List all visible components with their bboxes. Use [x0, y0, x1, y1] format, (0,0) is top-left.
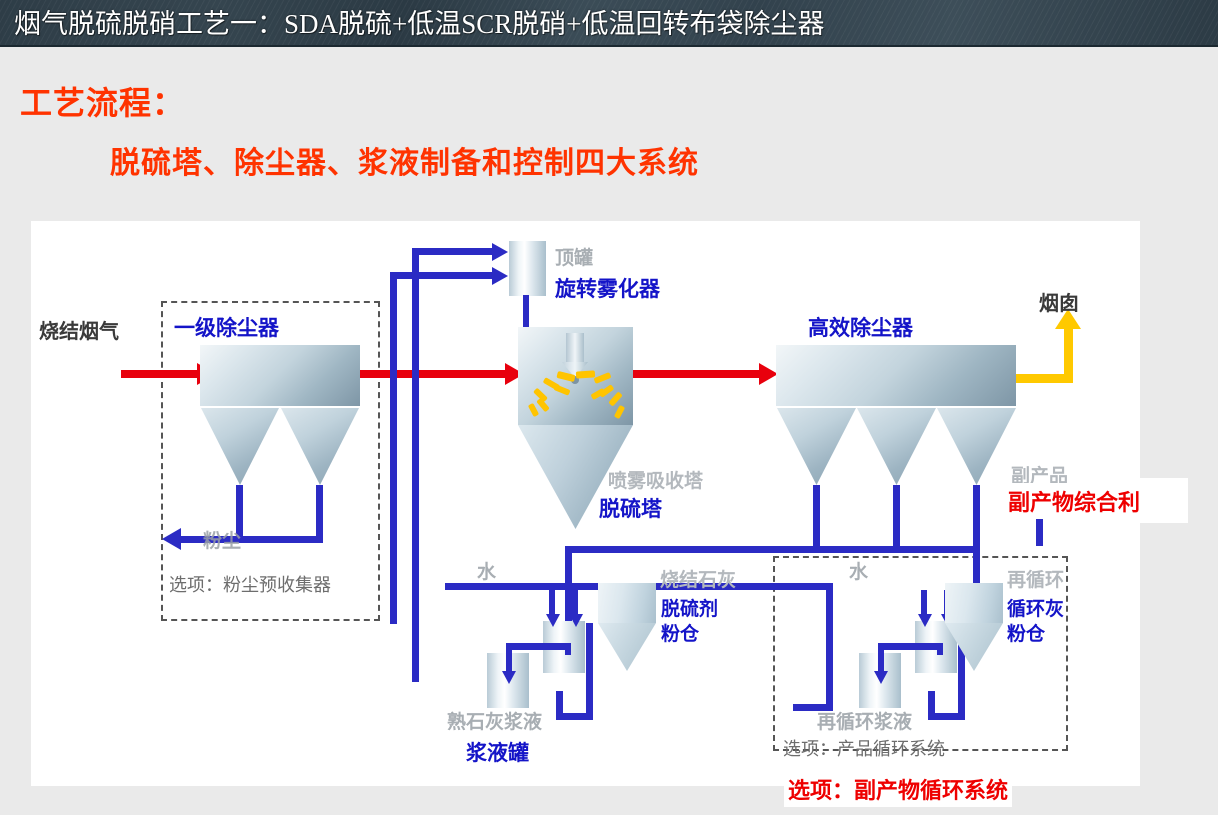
blue-line-mix-to-slurry-v	[565, 643, 571, 655]
label-recycle-ash-silo: 循环灰 粉仓	[1007, 597, 1064, 647]
blue-line-mix-to-slurry-h	[509, 643, 571, 650]
label-water-right: 水	[849, 557, 868, 584]
blue-line-ash-header	[565, 546, 980, 553]
label-desulfurizer-silo-line1: 脱硫剂	[661, 599, 718, 620]
spray-dash-7	[576, 370, 595, 378]
label-option-product-recycle: 选项：产品循环系统	[783, 735, 945, 761]
blue-line-he-drop-2	[893, 485, 900, 546]
page-title: 烟气脱硫脱硝工艺一：SDA脱硫+低温SCR脱硝+低温回转布袋除尘器	[14, 3, 825, 45]
label-slurry-tank: 浆液罐	[466, 737, 529, 767]
label-recirculation-faded: 再循环	[1007, 565, 1064, 592]
label-recirculating-slurry: 再循环浆液	[817, 707, 912, 734]
high-eff-hopper-2	[857, 408, 936, 485]
label-flue-gas-inlet: 烧结烟气	[39, 315, 119, 344]
label-chimney: 烟囱	[1039, 287, 1079, 316]
blue-arrow-slurry-drop	[502, 671, 516, 684]
atomizer-nozzle	[566, 333, 584, 365]
recycle-ash-silo-body	[945, 583, 1003, 623]
high-eff-hopper-3	[937, 408, 1016, 485]
desulfurizer-silo-body	[598, 583, 656, 623]
section-subtitle: 脱硫塔、除尘器、浆液制备和控制四大系统	[110, 138, 699, 182]
yellow-line-chimney-riser	[1064, 327, 1073, 379]
title-bar: 烟气脱硫脱硝工艺一：SDA脱硫+低温SCR脱硝+低温回转布袋除尘器	[0, 0, 1218, 47]
blue-line-hopper2-drop	[316, 485, 323, 543]
blue-line-to-recycle-silo	[973, 546, 980, 588]
label-primary-dust-collector: 一级除尘器	[174, 312, 279, 342]
blue-line-water-right-drop	[826, 583, 833, 711]
high-efficiency-collector-body	[776, 345, 1016, 406]
process-flow-diagram: 烧结烟气 一级除尘器 粉尘 选项：粉尘预收集器 顶罐 旋转雾化器	[31, 221, 1140, 786]
blue-line-he-drop-3	[973, 485, 980, 546]
label-high-efficiency-collector: 高效除尘器	[808, 312, 913, 342]
blue-line-into-recycle-mix-1	[921, 590, 927, 618]
red-line-to-tower	[360, 370, 507, 378]
label-spray-absorber-faded: 喷雾吸收塔	[608, 466, 703, 493]
label-water-left: 水	[477, 557, 496, 584]
blue-line-water-right-header	[770, 583, 832, 590]
label-sintered-lime-faded: 烧结石灰	[660, 565, 736, 592]
blue-line-recycle-loop-up	[928, 691, 935, 720]
red-line-inlet	[121, 370, 199, 378]
blue-line-slurry-loop-v	[586, 623, 593, 720]
section-title: 工艺流程：	[20, 78, 185, 124]
blue-arrow-dust-out	[162, 528, 181, 550]
red-line-tower-out	[633, 370, 761, 378]
top-tank-body	[509, 241, 546, 296]
blue-line-feed-top-2	[390, 272, 494, 279]
label-recycle-ash-silo-line1: 循环灰	[1007, 599, 1064, 620]
label-option-byproduct-recycle: 选项：副产物循环系统	[784, 771, 1012, 807]
blue-arrow-feed-top-1	[492, 243, 508, 261]
label-top-tank: 顶罐	[555, 243, 593, 270]
label-option-pre-collector: 选项：粉尘预收集器	[169, 571, 331, 597]
blue-line-he-drop-1	[813, 485, 820, 546]
label-dust: 粉尘	[203, 526, 241, 553]
blue-line-into-mixing-tank-2	[572, 590, 578, 618]
label-desulfurizer-silo: 脱硫剂 粉仓	[661, 597, 718, 647]
label-desulfurization-tower: 脱硫塔	[599, 493, 662, 523]
primary-dust-collector-body	[200, 345, 360, 406]
blue-arrow-recycle-slurry-drop	[874, 671, 888, 684]
label-slaked-lime-slurry: 熟石灰浆液	[447, 707, 542, 734]
high-eff-hopper-1	[777, 408, 856, 485]
blue-line-recycle-mix-h	[881, 643, 943, 650]
blue-line-into-mixing-tank-1	[549, 590, 555, 618]
blue-line-slurry-loop-up	[556, 691, 563, 720]
desulfurizer-silo-cone	[598, 623, 656, 671]
blue-line-recycle-mix-v	[937, 643, 943, 655]
label-recycle-ash-silo-line2: 粉仓	[1007, 624, 1045, 645]
blue-line-feed-top-1	[412, 248, 494, 255]
byproduct-label-backdrop	[1140, 478, 1188, 523]
label-desulfurizer-silo-line2: 粉仓	[661, 624, 699, 645]
label-rotary-atomizer: 旋转雾化器	[555, 273, 660, 303]
blue-arrow-feed-top-2	[492, 267, 508, 285]
blue-line-riser-main	[412, 248, 419, 682]
blue-line-riser-secondary	[390, 272, 397, 624]
